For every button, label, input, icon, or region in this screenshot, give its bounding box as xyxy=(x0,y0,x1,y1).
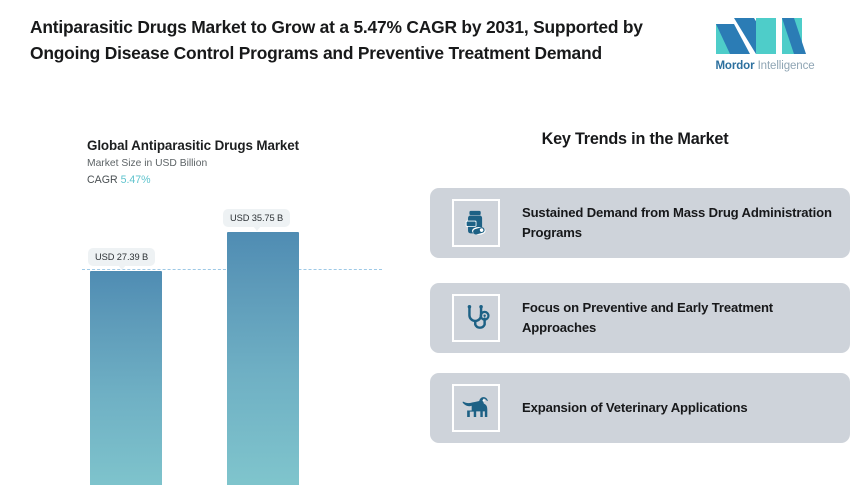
header: Antiparasitic Drugs Market to Grow at a … xyxy=(0,0,860,108)
dog-icon xyxy=(452,384,500,432)
brand-logo: Mordor Intelligence xyxy=(700,16,830,78)
bar-value-label-2026: USD 27.39 B xyxy=(88,248,155,266)
trend-card-label: Focus on Preventive and Early Treatment … xyxy=(522,283,837,353)
page-title: Antiparasitic Drugs Market to Grow at a … xyxy=(30,14,670,66)
infographic-page: Antiparasitic Drugs Market to Grow at a … xyxy=(0,0,860,485)
brand-logo-text: Mordor Intelligence xyxy=(700,60,830,72)
trend-card[interactable]: Focus on Preventive and Early Treatment … xyxy=(430,283,850,353)
trend-card-label: Expansion of Veterinary Applications xyxy=(522,373,837,443)
bar-2026 xyxy=(90,271,162,485)
key-trends-title: Key Trends in the Market xyxy=(420,130,850,149)
trend-card[interactable]: Expansion of Veterinary Applications xyxy=(430,373,850,443)
brand-name-light: Intelligence xyxy=(754,60,814,72)
bar-chart-plot: USD 27.39 B USD 35.75 B 2026 2031 xyxy=(0,120,420,470)
key-trends-panel: Key Trends in the Market Sustained Deman… xyxy=(420,120,860,470)
mordor-intelligence-logo-mark-icon xyxy=(714,16,808,56)
trend-card-label: Sustained Demand from Mass Drug Administ… xyxy=(522,188,837,258)
bar-value-label-2031: USD 35.75 B xyxy=(223,209,290,227)
brand-name-bold: Mordor xyxy=(715,60,754,72)
trend-card[interactable]: Sustained Demand from Mass Drug Administ… xyxy=(430,188,850,258)
bar-2031 xyxy=(227,232,299,485)
chart-panel: Global Antiparasitic Drugs Market Market… xyxy=(0,120,420,470)
stethoscope-icon xyxy=(452,294,500,342)
pill-bottle-icon xyxy=(452,199,500,247)
